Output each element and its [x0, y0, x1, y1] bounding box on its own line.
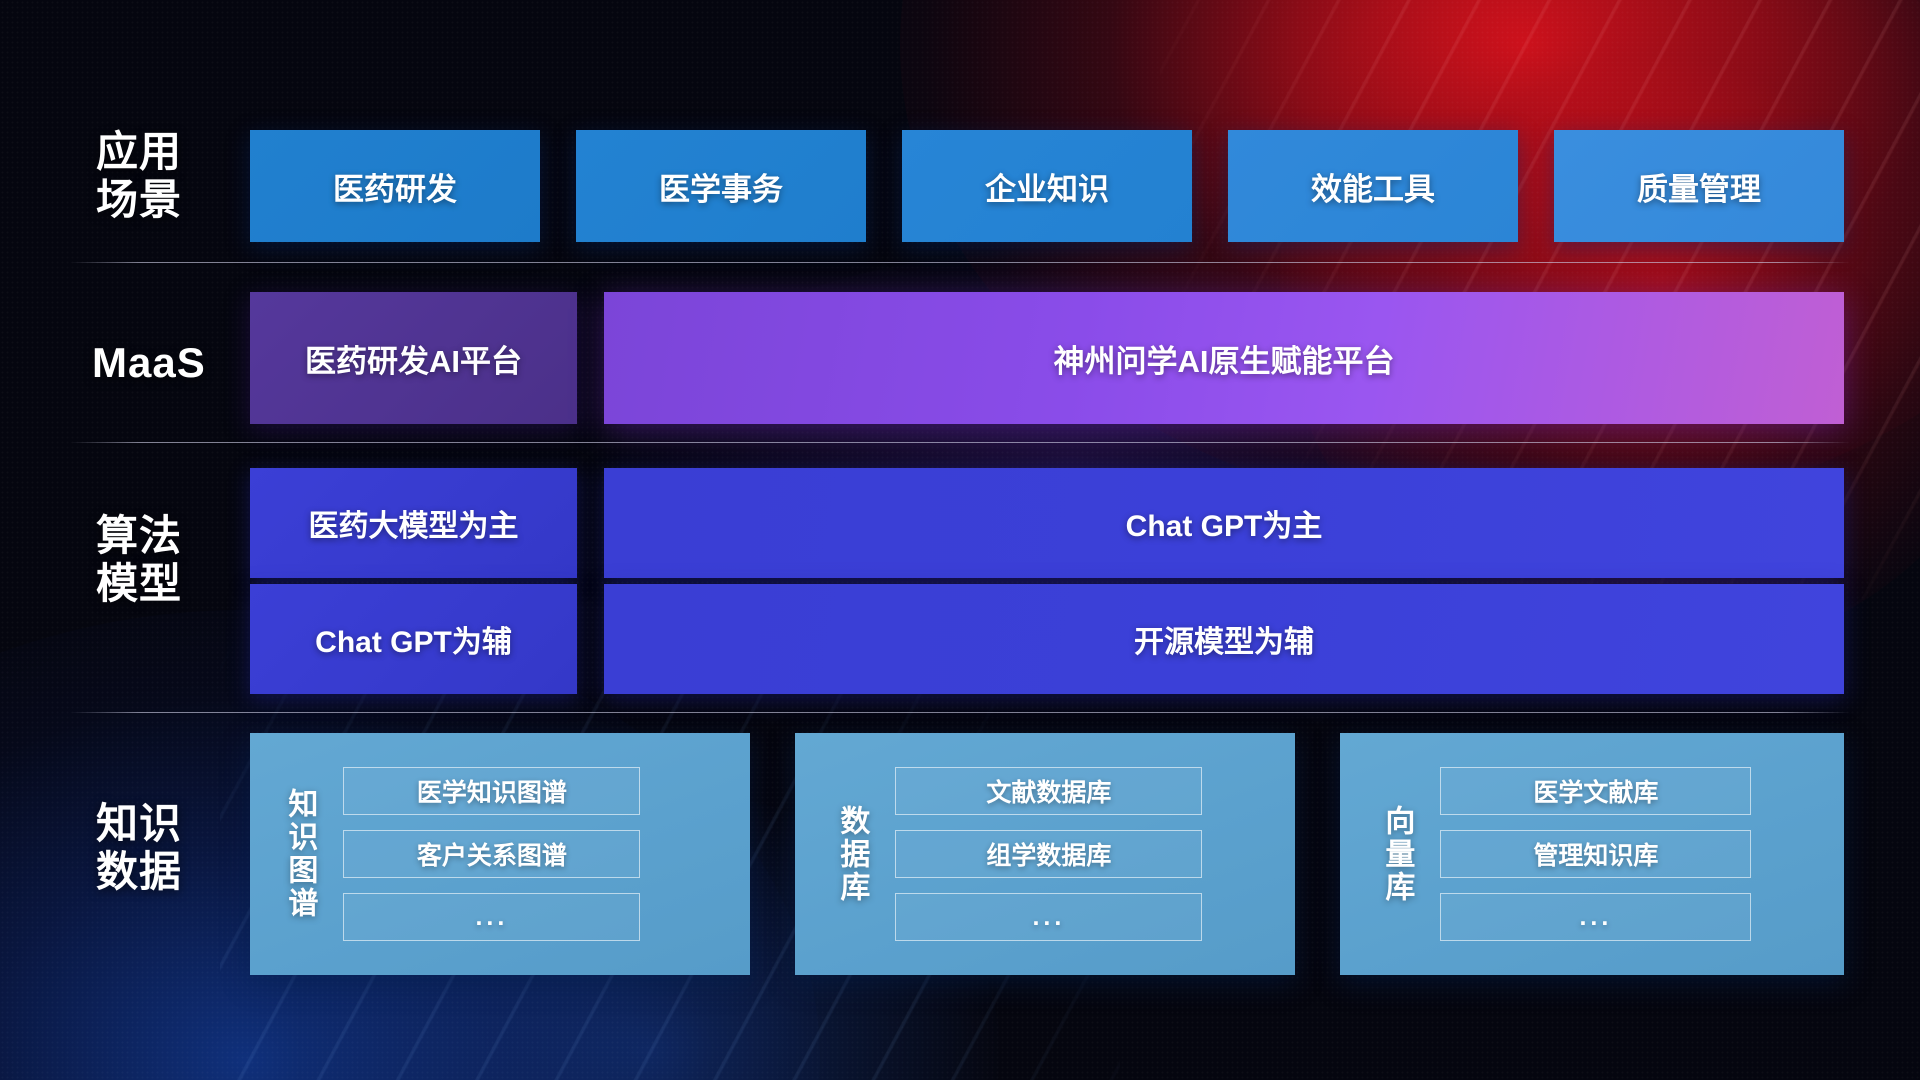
knowledge-item[interactable]: 组学数据库	[895, 830, 1202, 878]
knowledge-item[interactable]: 文献数据库	[895, 767, 1202, 815]
app-tile-efficiency-tools[interactable]: 效能工具	[1228, 130, 1518, 242]
app-tile-label: 企业知识	[985, 164, 1109, 209]
knowledge-item-label: ...	[1032, 903, 1065, 932]
maas-tile-shenzhou-wenxue-platform[interactable]: 神州问学AI原生赋能平台	[604, 292, 1844, 424]
knowledge-item[interactable]: ...	[1440, 893, 1751, 941]
maas-tile-label: 神州问学AI原生赋能平台	[1054, 336, 1395, 381]
knowledge-item-list: 医学文献库 管理知识库 ...	[1440, 767, 1751, 941]
app-tile-label: 效能工具	[1311, 164, 1435, 209]
maas-tile-label: 医药研发AI平台	[305, 336, 522, 381]
knowledge-item-list: 文献数据库 组学数据库 ...	[895, 767, 1202, 941]
knowledge-item-label: 医学文献库	[1533, 773, 1658, 809]
app-tile-quality-management[interactable]: 质量管理	[1554, 130, 1844, 242]
app-tile-label: 医药研发	[333, 164, 457, 209]
knowledge-item[interactable]: 客户关系图谱	[343, 830, 640, 878]
knowledge-panel-vertical-label: 知识图谱	[283, 759, 315, 949]
app-tile-medicine-rd[interactable]: 医药研发	[250, 130, 540, 242]
row-label-algorithm-model: 算法 模型	[96, 512, 266, 608]
knowledge-panel-knowledge-graph[interactable]: 知识图谱 医学知识图谱 客户关系图谱 ...	[250, 733, 750, 975]
knowledge-panel-vertical-label: 数据库	[835, 782, 867, 927]
knowledge-item[interactable]: 医学文献库	[1440, 767, 1751, 815]
algo-tile-label: 开源模型为辅	[1134, 617, 1314, 661]
knowledge-item[interactable]: ...	[895, 893, 1202, 941]
algo-tile-label: Chat GPT为辅	[315, 617, 512, 661]
knowledge-item-list: 医学知识图谱 客户关系图谱 ...	[343, 767, 640, 941]
app-tile-label: 质量管理	[1637, 164, 1761, 209]
app-tile-label: 医学事务	[659, 164, 783, 209]
knowledge-item-label: 文献数据库	[986, 773, 1111, 809]
knowledge-item[interactable]: 医学知识图谱	[343, 767, 640, 815]
knowledge-item[interactable]: 管理知识库	[1440, 830, 1751, 878]
knowledge-item-label: 组学数据库	[986, 836, 1111, 872]
algo-tile-opensource-secondary[interactable]: 开源模型为辅	[604, 584, 1844, 694]
knowledge-panel-vertical-label: 向量库	[1380, 782, 1412, 927]
knowledge-item[interactable]: ...	[343, 893, 640, 941]
algo-tile-label: Chat GPT为主	[1126, 501, 1323, 545]
architecture-diagram: 应用 场景 医药研发 医学事务 企业知识 效能工具 质量管理 MaaS 医药研发…	[0, 0, 1920, 1080]
algo-tile-chatgpt-secondary[interactable]: Chat GPT为辅	[250, 584, 577, 694]
divider-row1	[70, 262, 1850, 263]
algo-tile-label: 医药大模型为主	[309, 501, 519, 545]
row-label-application-scenarios: 应用 场景	[96, 128, 266, 224]
algo-tile-chatgpt-primary[interactable]: Chat GPT为主	[604, 468, 1844, 578]
app-tile-medical-affairs[interactable]: 医学事务	[576, 130, 866, 242]
knowledge-item-label: ...	[1579, 903, 1612, 932]
row-label-knowledge-data: 知识 数据	[96, 800, 266, 896]
knowledge-item-label: 医学知识图谱	[417, 773, 567, 809]
divider-row3	[70, 712, 1850, 713]
app-tile-enterprise-knowledge[interactable]: 企业知识	[902, 130, 1192, 242]
knowledge-panel-database[interactable]: 数据库 文献数据库 组学数据库 ...	[795, 733, 1295, 975]
knowledge-panel-vector-store[interactable]: 向量库 医学文献库 管理知识库 ...	[1340, 733, 1844, 975]
divider-row2	[70, 442, 1850, 443]
algo-tile-pharma-llm-primary[interactable]: 医药大模型为主	[250, 468, 577, 578]
maas-tile-pharma-ai-platform[interactable]: 医药研发AI平台	[250, 292, 577, 424]
knowledge-item-label: ...	[475, 903, 508, 932]
knowledge-item-label: 管理知识库	[1533, 836, 1658, 872]
knowledge-item-label: 客户关系图谱	[417, 836, 567, 872]
